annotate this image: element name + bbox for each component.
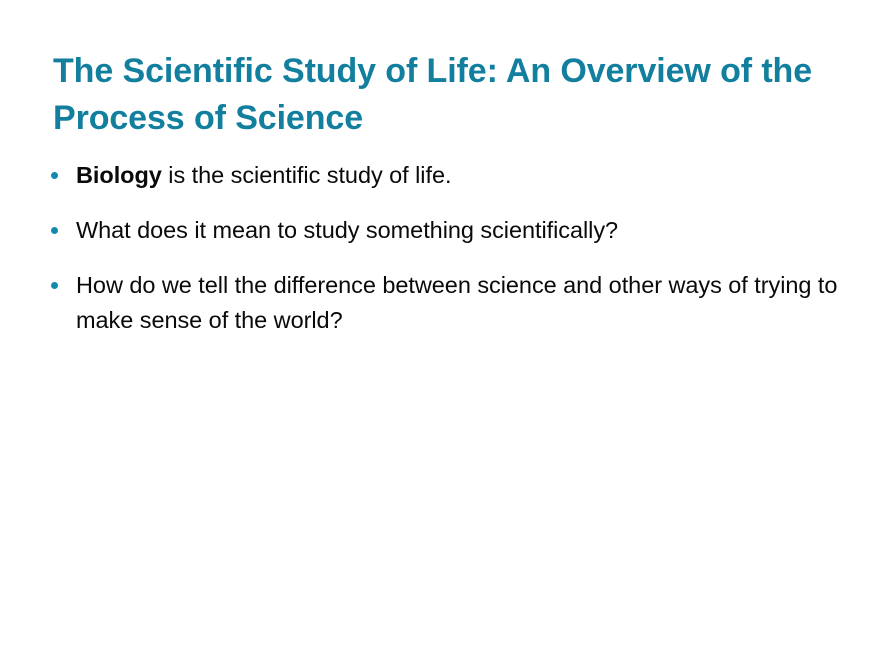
list-item-text: What does it mean to study something sci… xyxy=(76,213,840,248)
list-item: Biology is the scientific study of life. xyxy=(50,158,840,193)
list-item: How do we tell the difference between sc… xyxy=(50,268,840,338)
page-title: The Scientific Study of Life: An Overvie… xyxy=(53,48,843,142)
list-item-rest: is the scientific study of life. xyxy=(162,162,452,188)
slide: The Scientific Study of Life: An Overvie… xyxy=(0,0,880,660)
list-item: What does it mean to study something sci… xyxy=(50,213,840,248)
list-item-text: How do we tell the difference between sc… xyxy=(76,268,840,338)
list-item-emphasis: Biology xyxy=(76,162,162,188)
bullet-dot-icon xyxy=(51,172,58,179)
list-item-text: Biology is the scientific study of life. xyxy=(76,158,840,193)
bullet-dot-icon xyxy=(51,227,58,234)
bullet-dot-icon xyxy=(51,282,58,289)
bullet-list: Biology is the scientific study of life.… xyxy=(50,158,840,338)
